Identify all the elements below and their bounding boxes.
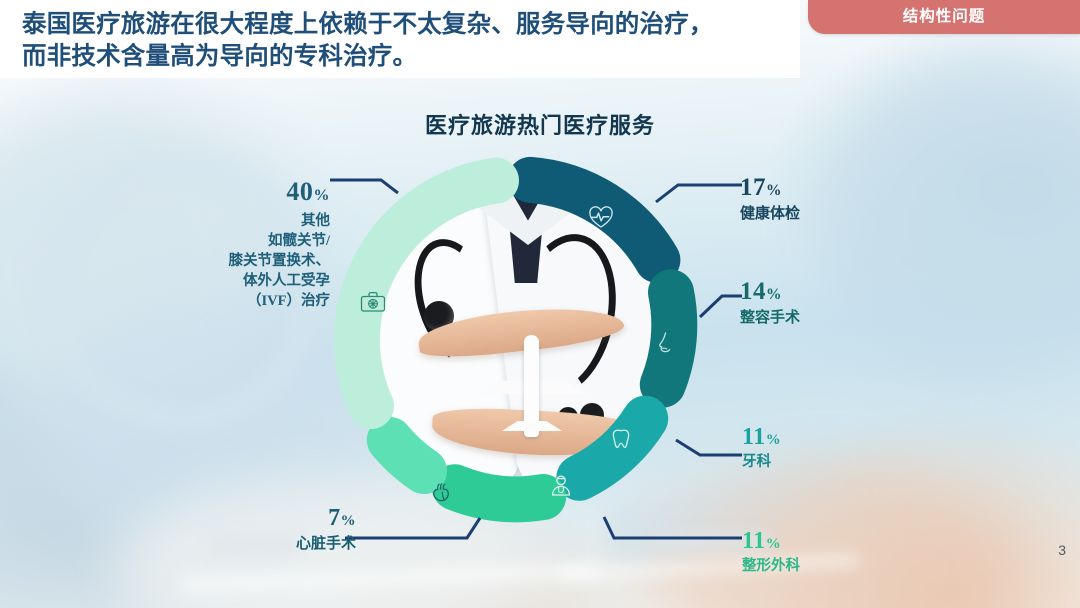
label-cosmetic-name: 整容手术 [740, 308, 960, 328]
label-checkup-percent: 17% [740, 174, 960, 204]
label-other: 40% 其他 如髋关节/ 膝关节置换术、 体外人工受孕 （IVF）治疗 [150, 178, 330, 311]
label-other-sub-2: 膝关节置换术、 [150, 251, 330, 271]
label-checkup: 17% 健康体检 [740, 174, 960, 224]
label-heart: 7% 心脏手术 [196, 505, 356, 554]
label-heart-percent: 7% [196, 505, 356, 534]
label-ortho-name: 整形外科 [742, 557, 972, 576]
header-bar: 泰国医疗旅游在很大程度上依赖于不太复杂、服务导向的治疗， 而非技术含量高为导向的… [0, 0, 800, 78]
label-ortho-percent: 11% [742, 528, 972, 557]
label-other-sub-4: （IVF）治疗 [150, 291, 330, 311]
label-other-name: 其他 [150, 212, 330, 231]
label-other-sub-3: 体外人工受孕 [150, 271, 330, 291]
page-title: 泰国医疗旅游在很大程度上依赖于不太复杂、服务导向的治疗， 而非技术含量高为导向的… [22, 9, 782, 73]
doctor-icon [548, 473, 574, 499]
slide: 泰国医疗旅游在很大程度上依赖于不太复杂、服务导向的治疗， 而非技术含量高为导向的… [0, 0, 1080, 608]
label-ortho: 11% 整形外科 [742, 528, 972, 576]
page-title-line2: 而非技术含量高为导向的专科治疗。 [22, 41, 782, 73]
label-heart-name: 心脏手术 [196, 534, 356, 554]
donut-segment-heart[interactable] [390, 440, 424, 471]
label-other-percent: 40% [150, 178, 330, 210]
label-checkup-name: 健康体检 [740, 204, 960, 224]
section-tag-badge: 结构性问题 [808, 0, 1080, 34]
label-dental-percent: 11% [742, 424, 962, 453]
heart-pulse-icon [588, 205, 614, 231]
label-dental-name: 牙科 [742, 453, 962, 472]
label-other-sub-1: 如髋关节/ [150, 231, 330, 251]
donut-chart [330, 155, 700, 525]
label-dental: 11% 牙科 [742, 424, 962, 472]
label-cosmetic: 14% 整容手术 [740, 278, 960, 328]
tooth-icon [608, 426, 634, 452]
section-tag-label: 结构性问题 [808, 0, 1080, 34]
page-number: 3 [1058, 542, 1066, 558]
donut-segment-ortho[interactable] [455, 487, 543, 499]
nose-icon [651, 330, 677, 356]
page-title-line1: 泰国医疗旅游在很大程度上依赖于不太复杂、服务导向的治疗， [22, 9, 782, 41]
anatomical-heart-icon [429, 480, 455, 506]
medical-kit-icon [358, 287, 388, 317]
label-cosmetic-percent: 14% [740, 278, 960, 308]
donut-ring [330, 155, 700, 525]
chart-title: 医疗旅游热门医疗服务 [0, 108, 1080, 140]
